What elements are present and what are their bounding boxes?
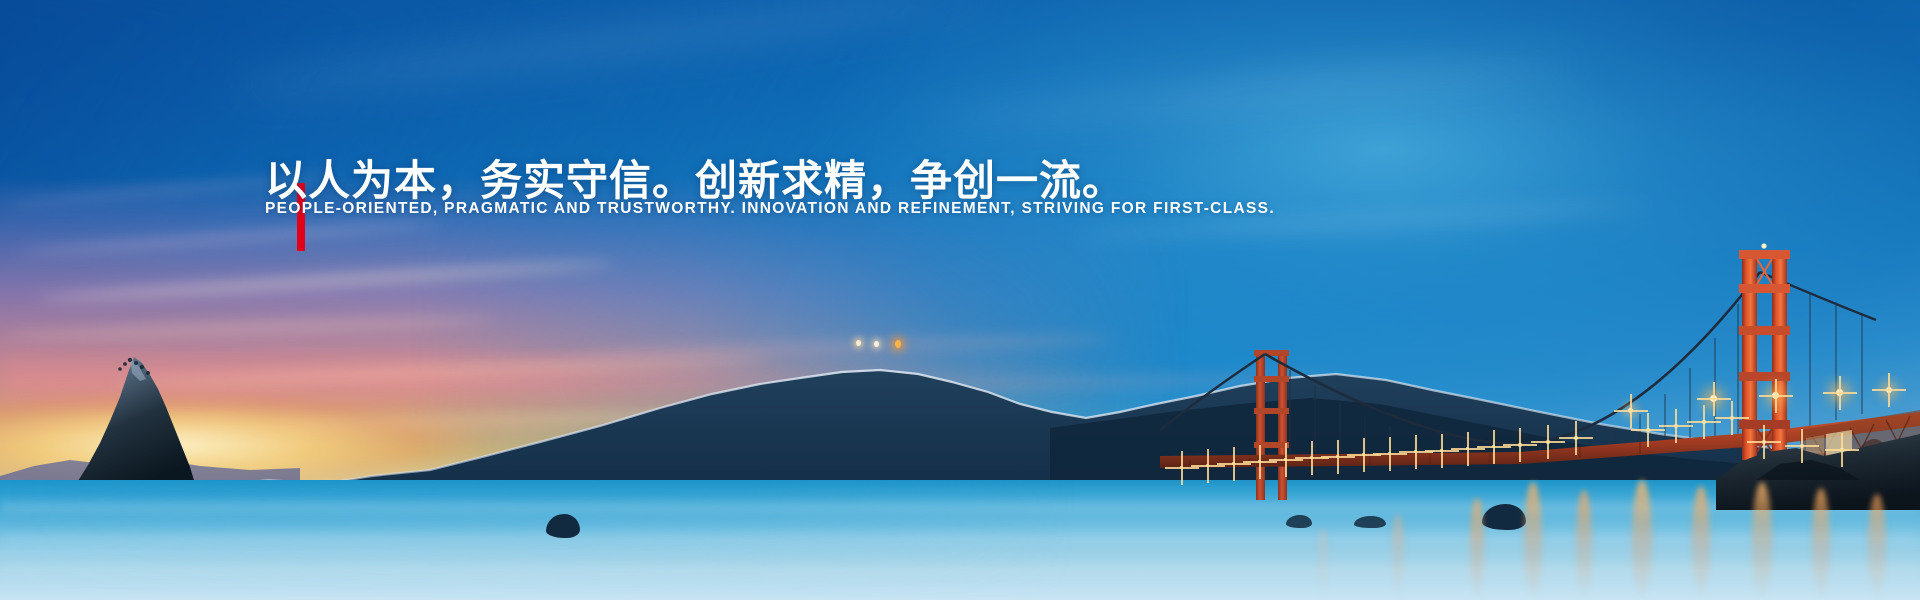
summit-light [874,341,879,347]
foreground-rock [546,514,580,538]
foreground-rock [1354,516,1386,528]
foreground-rock [1286,515,1312,528]
hero-banner: 以人为本，务实守信。创新求精，争创一流。 PEOPLE-ORIENTED, PR… [0,0,1920,600]
banner-headline: 以人为本，务实守信。创新求精，争创一流。 [265,147,1125,208]
sea-stack-rock [72,355,202,495]
banner-subtitle: PEOPLE-ORIENTED, PRAGMATIC AND TRUSTWORT… [265,200,1275,218]
summit-light [895,340,901,348]
summit-light [856,340,861,346]
